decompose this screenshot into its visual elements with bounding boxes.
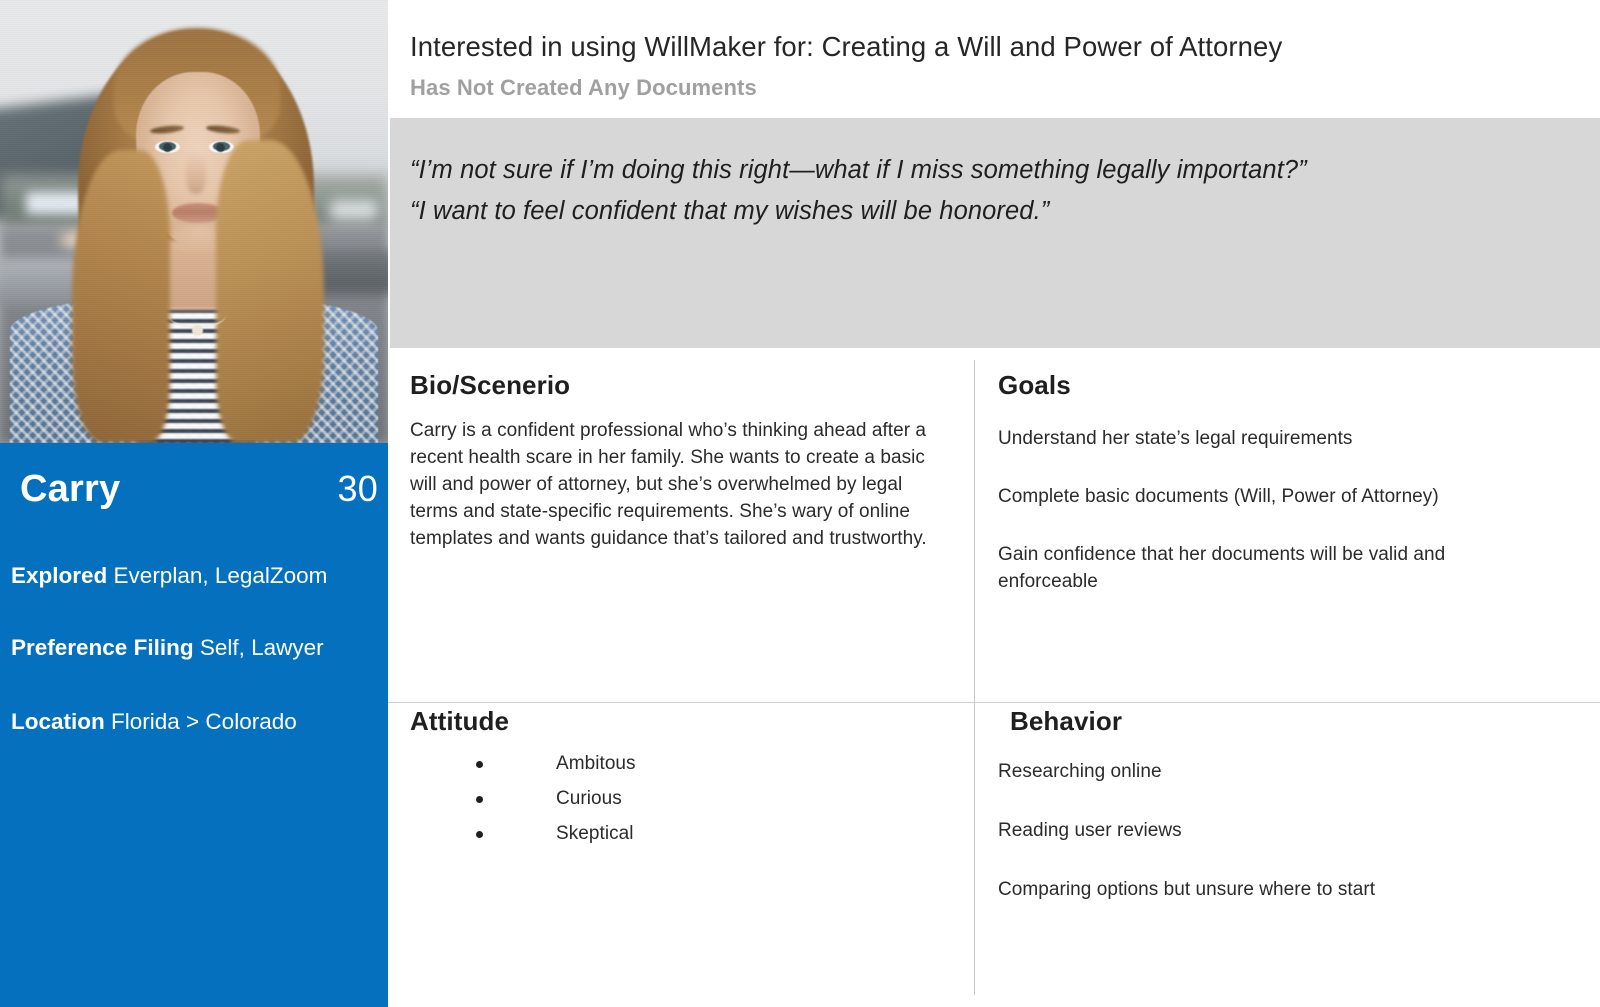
attitude-item-label: Ambitous (556, 751, 636, 778)
bullet-icon (476, 831, 483, 838)
behavior-item: Researching online (998, 759, 1528, 786)
meta-label-preference-filing: Preference Filing (11, 635, 194, 660)
page-title: Interested in using WillMaker for: Creat… (410, 31, 1282, 63)
meta-value-preference-filing: Self, Lawyer (200, 635, 324, 660)
goals-section: Goals Understand her state’s legal requi… (998, 370, 1558, 596)
persona-info-panel: Carry 30 Explored Everplan, LegalZoom Pr… (0, 443, 388, 1007)
vertical-divider (974, 360, 975, 995)
attitude-item-label: Skeptical (556, 821, 634, 848)
persona-portrait-photo (0, 0, 388, 443)
bio-heading: Bio/Scenerio (410, 370, 952, 401)
list-item: Ambitous (410, 751, 952, 778)
meta-value-explored: Everplan, LegalZoom (114, 563, 328, 588)
persona-meta-explored: Explored Everplan, LegalZoom (11, 563, 388, 589)
hair-strand-right (216, 140, 324, 443)
persona-name: Carry (20, 468, 120, 511)
goal-item: Complete basic documents (Will, Power of… (998, 484, 1518, 511)
detail-grid: Bio/Scenerio Carry is a confident profes… (388, 348, 1600, 1007)
goal-item: Gain confidence that her documents will … (998, 542, 1518, 596)
attitude-item-label: Curious (556, 786, 622, 813)
goal-item: Understand her state’s legal requirement… (998, 426, 1518, 453)
behavior-item: Comparing options but unsure where to st… (998, 877, 1528, 904)
attitude-heading: Attitude (410, 706, 952, 737)
persona-card: Carry 30 Explored Everplan, LegalZoom Pr… (0, 0, 1600, 1007)
attitude-section: Attitude Ambitous Curious Skeptical (410, 706, 952, 856)
meta-label-explored: Explored (11, 563, 107, 588)
pupil-right (216, 143, 225, 152)
persona-age: 30 (338, 468, 378, 510)
bullet-icon (476, 761, 483, 768)
necklace-pendant (192, 325, 203, 336)
goals-heading: Goals (998, 370, 1558, 401)
behavior-heading: Behavior (1010, 706, 1558, 737)
attitude-list: Ambitous Curious Skeptical (410, 751, 952, 848)
persona-right-column: Interested in using WillMaker for: Creat… (388, 0, 1600, 1007)
bio-section: Bio/Scenerio Carry is a confident profes… (410, 370, 952, 553)
meta-label-location: Location (11, 709, 105, 734)
header-subtitle: Has Not Created Any Documents (410, 75, 757, 101)
pupil-left (163, 143, 172, 152)
persona-meta-preference-filing: Preference Filing Self, Lawyer (11, 635, 388, 661)
nose (186, 152, 206, 194)
bullet-icon (476, 796, 483, 803)
hair-strand-left (72, 150, 170, 443)
list-item: Curious (410, 786, 952, 813)
persona-meta-location: Location Florida > Colorado (11, 709, 388, 735)
quote-1: “I’m not sure if I’m doing this right—wh… (410, 156, 1307, 185)
meta-value-location: Florida > Colorado (111, 709, 297, 734)
persona-left-column: Carry 30 Explored Everplan, LegalZoom Pr… (0, 0, 388, 1007)
behavior-item: Reading user reviews (998, 818, 1528, 845)
quote-2: “I want to feel confident that my wishes… (410, 197, 1049, 226)
background-light-3 (330, 200, 378, 220)
quotes-band: “I’m not sure if I’m doing this right—wh… (390, 118, 1600, 348)
bio-text: Carry is a confident professional who’s … (410, 418, 945, 553)
list-item: Skeptical (410, 821, 952, 848)
behavior-section: Behavior Researching online Reading user… (998, 706, 1558, 904)
horizontal-divider (388, 702, 1600, 703)
persona-name-row: Carry 30 (20, 468, 378, 511)
